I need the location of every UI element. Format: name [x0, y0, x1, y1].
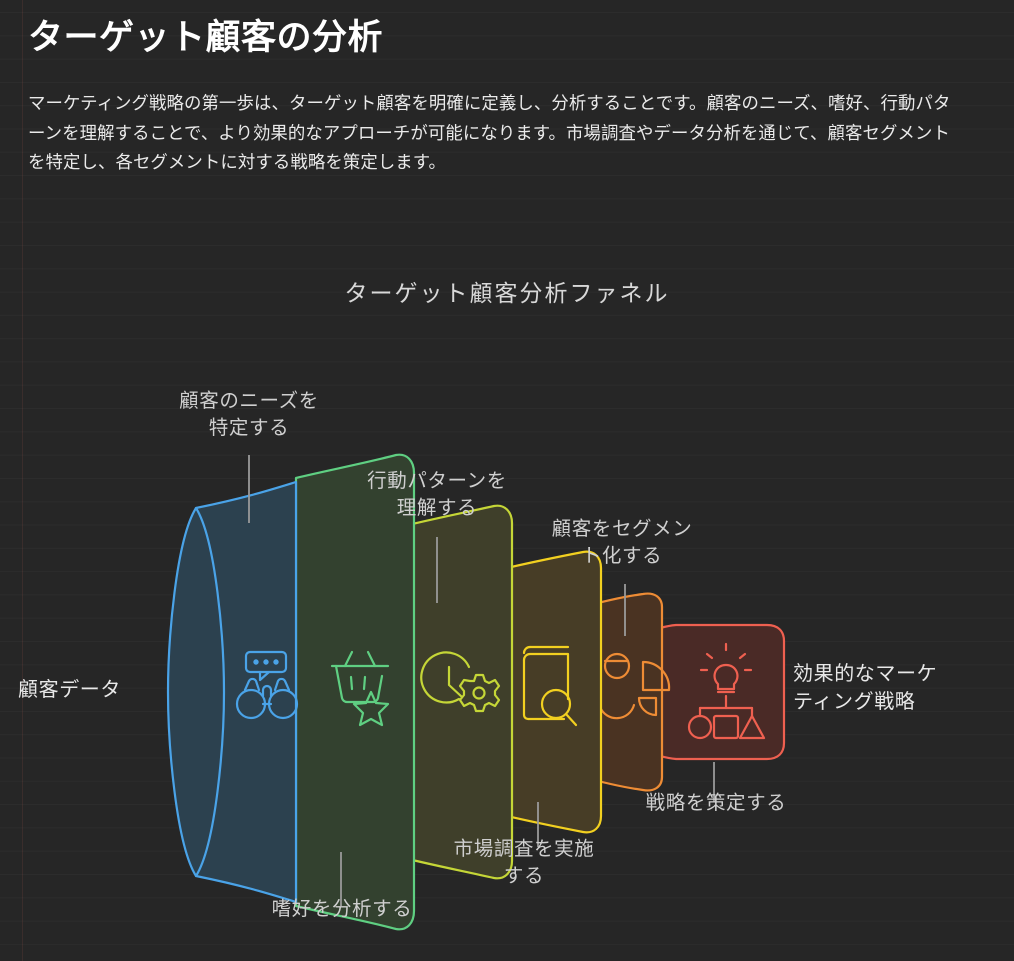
stage-label-4: 市場調査を実施 する — [420, 836, 628, 890]
funnel-input-label: 顧客データ — [18, 676, 168, 704]
stage-label-6: 戦略を策定する — [604, 790, 828, 817]
stage-label-1: 顧客のニーズを 特定する — [148, 388, 350, 442]
stage-label-5: 顧客をセグメン ト化する — [524, 516, 720, 570]
funnel-figure: ターゲット顧客分析ファネル — [0, 240, 1014, 961]
funnel-output-label: 効果的なマーケ ティング戦略 — [793, 660, 998, 716]
page-title: ターゲット顧客の分析 — [0, 0, 1014, 63]
document-body: ターゲット顧客の分析 マーケティング戦略の第一歩は、ターゲット顧客を明確に定義し… — [0, 0, 1014, 178]
funnel-segment-2[interactable] — [296, 455, 414, 930]
stage-label-3: 行動パターンを 理解する — [336, 468, 538, 522]
funnel-segment-1[interactable] — [168, 482, 297, 902]
funnel-segment-6[interactable] — [643, 625, 784, 759]
stage-label-2: 嗜好を分析する — [212, 896, 472, 923]
body-paragraph: マーケティング戦略の第一歩は、ターゲット顧客を明確に定義し、分析することです。顧… — [0, 63, 1014, 178]
